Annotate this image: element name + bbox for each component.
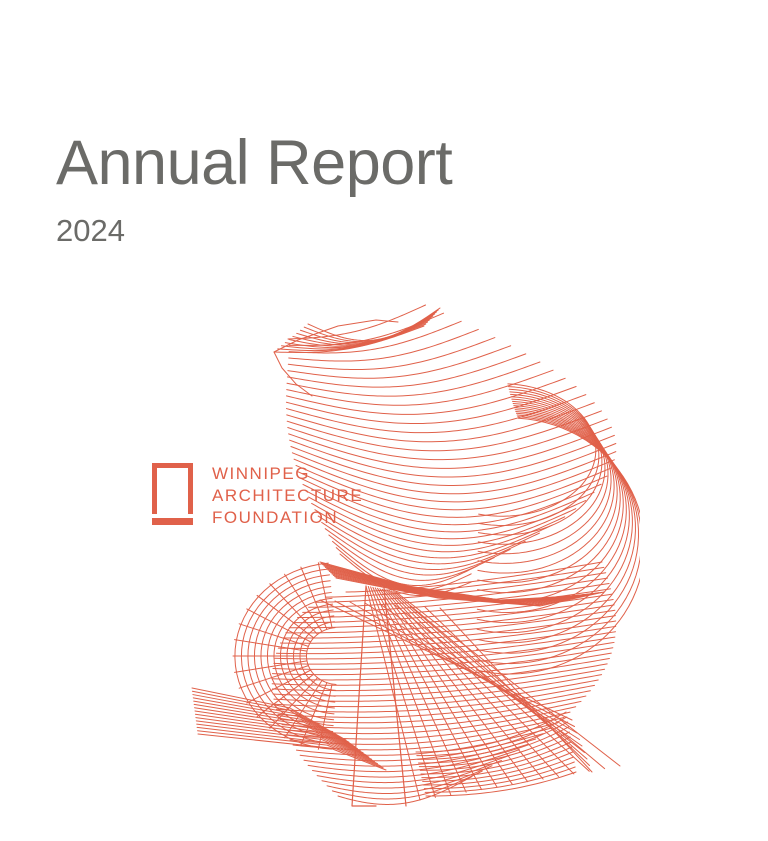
contour-drawing-svg <box>170 300 640 810</box>
portal-base-bar-shape <box>152 518 193 525</box>
logo-wordmark: WINNIPEG ARCHITECTURE FOUNDATION <box>212 462 363 529</box>
logo-line-architecture: ARCHITECTURE <box>212 485 363 507</box>
logo-line-foundation: FOUNDATION <box>212 507 363 529</box>
logo-line-winnipeg: WINNIPEG <box>212 463 363 485</box>
organization-logo: WINNIPEG ARCHITECTURE FOUNDATION <box>152 462 363 529</box>
cover-year: 2024 <box>56 195 452 246</box>
portal-outline-shape <box>152 463 193 514</box>
report-cover-page: Annual Report 2024 WINNIPEG ARCHITECTURE… <box>0 0 768 841</box>
portal-square-mark-icon <box>152 463 193 527</box>
page-title: Annual Report <box>56 132 452 195</box>
architectural-contour-illustration <box>170 300 640 810</box>
cover-title-block: Annual Report 2024 <box>56 132 452 246</box>
